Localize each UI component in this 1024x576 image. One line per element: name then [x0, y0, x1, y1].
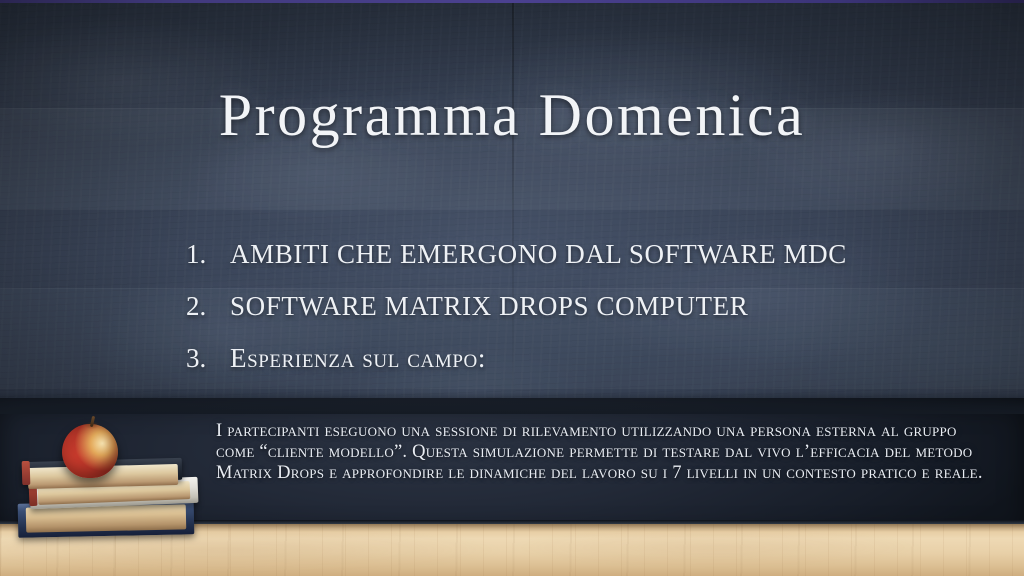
top-accent-bar: [0, 0, 1024, 3]
bottom-photo-fade: [0, 392, 1024, 414]
agenda-list: 1. Ambiti che emergono dal software MDC …: [186, 238, 986, 393]
list-item-label: Software Matrix Drops Computer: [230, 290, 748, 324]
list-item-number: 2.: [186, 290, 230, 324]
book-bottom-pages: [26, 504, 186, 532]
slide-title: Programma Domenica: [0, 85, 1024, 145]
apple-icon: [62, 424, 118, 478]
list-item: 1. Ambiti che emergono dal software MDC: [186, 238, 986, 272]
list-item-number: 3.: [186, 342, 230, 376]
list-item-number: 1.: [186, 238, 230, 272]
slide-canvas: Programma Domenica 1. Ambiti che emergon…: [0, 0, 1024, 576]
book-top-spine: [22, 461, 31, 485]
list-item: 3. Esperienza sul campo:: [186, 342, 986, 376]
body-paragraph: I partecipanti eseguono una sessione di …: [216, 421, 991, 484]
list-item-label: Ambiti che emergono dal software MDC: [230, 238, 847, 272]
list-item-label: Esperienza sul campo:: [230, 342, 486, 376]
list-item: 2. Software Matrix Drops Computer: [186, 290, 986, 324]
